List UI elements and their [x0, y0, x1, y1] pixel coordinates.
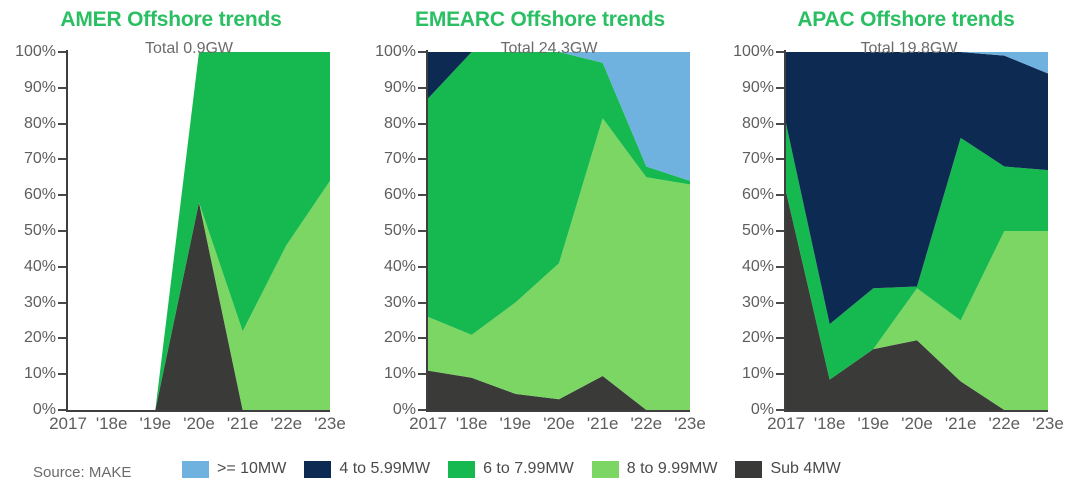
- y-tick-label: 90%: [24, 79, 56, 97]
- y-tick-label: 30%: [742, 294, 774, 312]
- x-axis-line-apac: [784, 410, 1048, 412]
- y-tick-mark: [418, 266, 426, 268]
- y-tick-mark: [58, 158, 66, 160]
- x-tick-label: '20e: [901, 414, 933, 434]
- legend-swatch-icon: [735, 461, 762, 478]
- y-tick-mark: [58, 87, 66, 89]
- x-tick-label: '23e: [674, 414, 706, 434]
- offshore-trends-figure: AMER Offshore trends Total 0.9GW 100%90%…: [0, 0, 1080, 496]
- y-tick-label: 60%: [384, 186, 416, 204]
- y-tick-label: 80%: [384, 115, 416, 133]
- y-tick-mark: [58, 337, 66, 339]
- y-tick-label: 80%: [742, 115, 774, 133]
- y-tick-mark: [58, 266, 66, 268]
- y-tick-label: 50%: [24, 222, 56, 240]
- x-axis-line-amer: [66, 410, 330, 412]
- y-tick-label: 90%: [384, 79, 416, 97]
- total-label-amer: Total 0.9GW: [0, 40, 360, 58]
- y-tick-mark: [418, 123, 426, 125]
- legend-item-mw6to799[interactable]: 6 to 7.99MW: [448, 460, 574, 478]
- y-tick-label: 70%: [384, 150, 416, 168]
- y-tick-mark: [58, 230, 66, 232]
- y-tick-label: 20%: [742, 329, 774, 347]
- legend-swatch-icon: [304, 461, 331, 478]
- legend-item-mw8to999[interactable]: 8 to 9.99MW: [592, 460, 718, 478]
- y-tick-label: 10%: [384, 365, 416, 383]
- y-tick-label: 90%: [742, 79, 774, 97]
- y-tick-label: 40%: [384, 258, 416, 276]
- legend-swatch-icon: [448, 461, 475, 478]
- y-tick-label: 30%: [24, 294, 56, 312]
- y-tick-mark: [776, 87, 784, 89]
- total-label-emearc: Total 24.3GW: [360, 40, 720, 58]
- x-tick-label: '21e: [945, 414, 977, 434]
- plot-area-amer: [68, 52, 330, 410]
- y-tick-mark: [776, 230, 784, 232]
- y-tick-mark: [58, 123, 66, 125]
- x-axis-apac: 2017'18e'19e'20e'21e'22e'23e: [778, 414, 1058, 444]
- plot-area-apac: [786, 52, 1048, 410]
- x-axis-line-emearc: [426, 410, 690, 412]
- area-chart-amer: [68, 52, 330, 410]
- x-tick-label: '21e: [587, 414, 619, 434]
- y-tick-mark: [418, 230, 426, 232]
- legend-item-gte10mw[interactable]: >= 10MW: [182, 460, 286, 478]
- x-tick-label: '19e: [500, 414, 532, 434]
- y-tick-mark: [776, 266, 784, 268]
- y-tick-label: 20%: [24, 329, 56, 347]
- legend-label: 6 to 7.99MW: [483, 460, 574, 478]
- y-tick-mark: [418, 87, 426, 89]
- y-tick-label: 40%: [742, 258, 774, 276]
- x-tick-label: '23e: [1032, 414, 1064, 434]
- y-tick-mark: [58, 302, 66, 304]
- chart-panel-apac: APAC Offshore trends Total 19.8GW 100%90…: [720, 0, 1080, 452]
- x-tick-label: '23e: [314, 414, 346, 434]
- y-axis-amer: 100%90%80%70%60%50%40%30%20%10%0%: [0, 44, 68, 418]
- legend: >= 10MW4 to 5.99MW6 to 7.99MW8 to 9.99MW…: [182, 460, 859, 478]
- y-tick-mark: [776, 302, 784, 304]
- total-label-apac: Total 19.8GW: [720, 40, 1080, 58]
- x-tick-label: '22e: [989, 414, 1021, 434]
- x-tick-label: 2017: [409, 414, 447, 434]
- y-axis-apac: 100%90%80%70%60%50%40%30%20%10%0%: [720, 44, 786, 418]
- y-tick-label: 40%: [24, 258, 56, 276]
- page-title-apac: APAC Offshore trends: [720, 8, 1080, 32]
- chart-panel-emearc: EMEARC Offshore trends Total 24.3GW 100%…: [360, 0, 720, 452]
- y-tick-mark: [776, 158, 784, 160]
- area-chart-apac: [786, 52, 1048, 410]
- x-axis-amer: 2017'18e'19e'20e'21e'22e'23e: [60, 414, 340, 444]
- y-tick-mark: [776, 194, 784, 196]
- y-tick-mark: [58, 194, 66, 196]
- legend-swatch-icon: [592, 461, 619, 478]
- y-tick-label: 60%: [742, 186, 774, 204]
- y-tick-mark: [418, 302, 426, 304]
- x-tick-label: '18e: [96, 414, 128, 434]
- y-tick-mark: [58, 373, 66, 375]
- x-tick-label: '20e: [543, 414, 575, 434]
- y-tick-mark: [776, 123, 784, 125]
- legend-swatch-icon: [182, 461, 209, 478]
- area-chart-emearc: [428, 52, 690, 410]
- x-axis-emearc: 2017'18e'19e'20e'21e'22e'23e: [420, 414, 700, 444]
- chart-panel-amer: AMER Offshore trends Total 0.9GW 100%90%…: [0, 0, 360, 452]
- x-tick-label: 2017: [49, 414, 87, 434]
- y-tick-label: 70%: [24, 150, 56, 168]
- y-tick-mark: [418, 409, 426, 411]
- y-tick-mark: [776, 373, 784, 375]
- y-tick-label: 20%: [384, 329, 416, 347]
- y-tick-label: 10%: [24, 365, 56, 383]
- y-tick-mark: [776, 337, 784, 339]
- x-tick-label: '19e: [858, 414, 890, 434]
- y-tick-label: 30%: [384, 294, 416, 312]
- y-tick-label: 80%: [24, 115, 56, 133]
- legend-item-mw4to599[interactable]: 4 to 5.99MW: [304, 460, 430, 478]
- legend-label: Sub 4MW: [770, 460, 840, 478]
- y-tick-label: 50%: [384, 222, 416, 240]
- y-tick-mark: [418, 373, 426, 375]
- x-tick-label: '20e: [183, 414, 215, 434]
- y-tick-mark: [418, 158, 426, 160]
- y-tick-mark: [776, 409, 784, 411]
- page-title-emearc: EMEARC Offshore trends: [360, 8, 720, 32]
- legend-label: 4 to 5.99MW: [339, 460, 430, 478]
- y-tick-label: 60%: [24, 186, 56, 204]
- x-tick-label: '22e: [631, 414, 663, 434]
- plot-area-emearc: [428, 52, 690, 410]
- page-title-amer: AMER Offshore trends: [0, 8, 360, 32]
- y-tick-mark: [58, 409, 66, 411]
- source-label: Source: MAKE: [33, 464, 131, 481]
- x-tick-label: '21e: [227, 414, 259, 434]
- y-axis-emearc: 100%90%80%70%60%50%40%30%20%10%0%: [360, 44, 428, 418]
- legend-label: 8 to 9.99MW: [627, 460, 718, 478]
- legend-label: >= 10MW: [217, 460, 286, 478]
- x-tick-label: '18e: [814, 414, 846, 434]
- y-tick-label: 50%: [742, 222, 774, 240]
- x-tick-label: 2017: [767, 414, 805, 434]
- x-tick-label: '22e: [271, 414, 303, 434]
- y-tick-label: 10%: [742, 365, 774, 383]
- y-tick-mark: [418, 337, 426, 339]
- x-tick-label: '19e: [140, 414, 172, 434]
- figure-footer: Source: MAKE >= 10MW4 to 5.99MW6 to 7.99…: [0, 452, 1080, 496]
- y-tick-mark: [418, 194, 426, 196]
- x-tick-label: '18e: [456, 414, 488, 434]
- legend-item-sub4mw[interactable]: Sub 4MW: [735, 460, 840, 478]
- y-tick-label: 70%: [742, 150, 774, 168]
